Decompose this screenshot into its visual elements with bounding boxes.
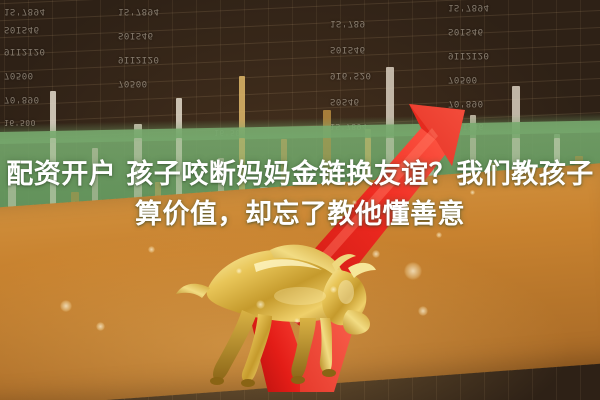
bokeh-light [404,262,422,280]
bokeh-light [418,306,428,316]
golden-bull-statue [150,218,380,393]
bokeh-light [236,268,242,274]
bokeh-light [148,246,155,253]
bokeh-light [372,250,380,258]
bokeh-light [294,318,300,324]
bokeh-light [60,300,72,312]
bokeh-light [256,300,265,309]
bokeh-light [96,322,105,331]
image-canvas: 1S'7894S0IS469II2I207050070'89016'5001S'… [0,0,600,400]
headline: 配资开户 孩子咬断妈妈金链换友谊？我们教孩子 算价值，却忘了教他懂善意 [0,155,600,235]
bokeh-light [330,286,337,293]
bull-icon [150,218,380,393]
headline-line-1: 配资开户 孩子咬断妈妈金链换友谊？我们教孩子 [6,159,593,190]
headline-line-2: 算价值，却忘了教他懂善意 [0,195,600,235]
